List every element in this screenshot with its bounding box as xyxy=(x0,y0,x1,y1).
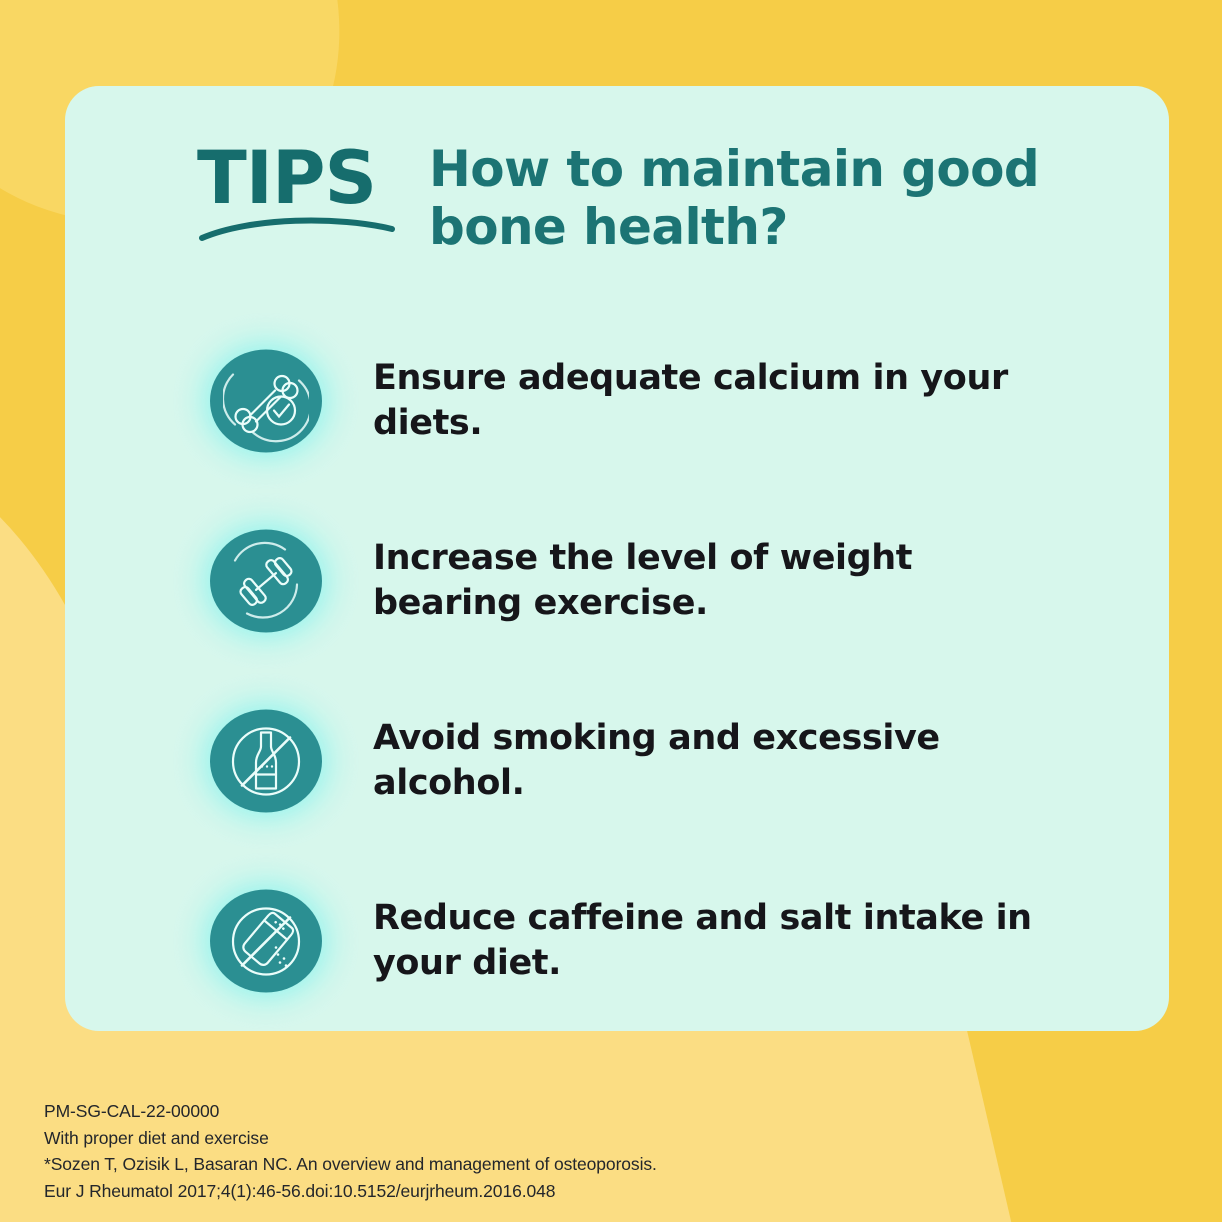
tips-label: TIPS xyxy=(197,144,395,213)
icon-disc xyxy=(210,710,322,813)
tips-card-panel: TIPS How to maintain good bone health? xyxy=(65,86,1169,1031)
footer-line-code: PM-SG-CAL-22-00000 xyxy=(44,1098,657,1125)
icon-disc xyxy=(210,530,322,633)
tip-text: Increase the level of weight bearing exe… xyxy=(373,536,1063,627)
no-alcohol-bottle-icon xyxy=(223,718,309,804)
tip-text: Ensure adequate calcium in your diets. xyxy=(373,356,1063,447)
tip-icon-container xyxy=(205,340,327,462)
tips-list: Ensure adequate calcium in your diets. xyxy=(205,311,1125,1031)
footer-line-citation-1: *Sozen T, Ozisik L, Basaran NC. An overv… xyxy=(44,1151,657,1178)
header: TIPS How to maintain good bone health? xyxy=(197,136,1039,256)
tip-icon-container xyxy=(205,520,327,642)
footer-line-citation-2: Eur J Rheumatol 2017;4(1):46-56.doi:10.5… xyxy=(44,1178,657,1205)
tip-text: Avoid smoking and excessive alcohol. xyxy=(373,716,1063,807)
tip-text: Reduce caffeine and salt intake in your … xyxy=(373,896,1063,987)
icon-disc xyxy=(210,350,322,453)
dumbbell-icon xyxy=(223,538,309,624)
no-salt-shaker-icon xyxy=(223,898,309,984)
infographic-poster: TIPS How to maintain good bone health? xyxy=(0,0,1222,1222)
bone-with-check-icon xyxy=(223,358,309,444)
tip-icon-container xyxy=(205,880,327,1002)
icon-disc xyxy=(210,890,322,993)
tip-icon-container xyxy=(205,700,327,822)
page-title: How to maintain good bone health? xyxy=(429,136,1039,256)
page-title-line-1: How to maintain good xyxy=(429,140,1039,198)
tips-badge: TIPS xyxy=(197,136,395,241)
tip-item-calcium: Ensure adequate calcium in your diets. xyxy=(205,311,1125,491)
page-title-line-2: bone health? xyxy=(429,198,1039,256)
tip-item-salt: Reduce caffeine and salt intake in your … xyxy=(205,851,1125,1031)
footer-disclaimer: PM-SG-CAL-22-00000 With proper diet and … xyxy=(44,1098,657,1204)
tip-item-alcohol: Avoid smoking and excessive alcohol. xyxy=(205,671,1125,851)
footer-line-note: With proper diet and exercise xyxy=(44,1125,657,1152)
tip-item-exercise: Increase the level of weight bearing exe… xyxy=(205,491,1125,671)
